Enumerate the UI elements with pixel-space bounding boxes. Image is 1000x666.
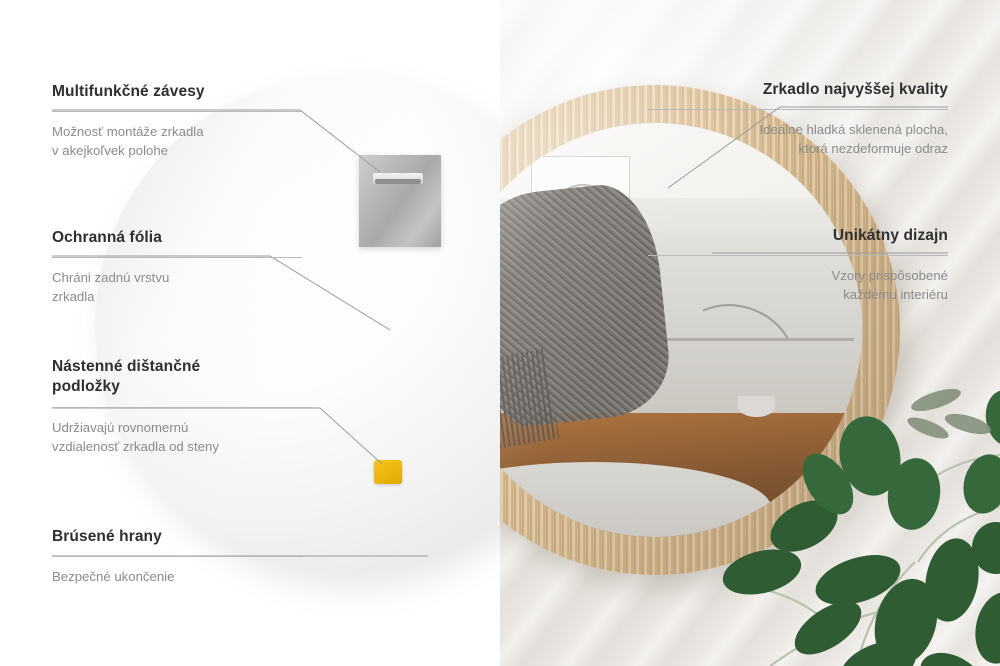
hanger-slot-shadow: [375, 179, 421, 184]
callout-description-line1: Bezpečné ukončenie: [52, 567, 302, 586]
callout-description-line2: zrkadla: [52, 287, 302, 306]
callout-rule: [648, 255, 948, 256]
callout-title: Ochranná fólia: [52, 228, 302, 248]
callout-rule: [52, 556, 302, 557]
callout-unikatny-dizajn: Unikátny dizajn Vzory prispôsobené každé…: [648, 226, 948, 304]
callout-description-line1: Udržiavajú rovnomernú: [52, 418, 312, 437]
callout-multifunkcne-zavesy: Multifunkčné závesy Možnosť montáže zrka…: [52, 82, 302, 160]
callout-title: Zrkadlo najvyššej kvality: [648, 80, 948, 100]
callout-description-line1: Ideálne hladká sklenená plocha,: [648, 120, 948, 139]
callout-description-line1: Možnosť montáže zrkadla: [52, 122, 302, 141]
callout-title: Multifunkčné závesy: [52, 82, 302, 102]
infographic-canvas: Multifunkčné závesy Možnosť montáže zrka…: [0, 0, 1000, 666]
callout-rule: [52, 407, 312, 408]
callout-rule: [52, 111, 302, 112]
callout-description-line1: Chráni zadnú vrstvu: [52, 268, 302, 287]
spacer-pad: [374, 460, 402, 484]
callout-title: Unikátny dizajn: [648, 226, 948, 246]
callout-description-line1: Vzory prispôsobené: [648, 266, 948, 285]
hanger-plate: [359, 155, 441, 247]
callout-description-line2: každému interiéru: [648, 285, 948, 304]
eucalyptus-leaves: [700, 366, 1000, 666]
callout-nastenne-distancne-podlozky: Nástenné dištančné podložky Udržiavajú r…: [52, 357, 312, 456]
callout-description-line2: v akejkoľvek polohe: [52, 141, 302, 160]
callout-rule: [52, 257, 302, 258]
callout-brusene-hrany: Brúsené hrany Bezpečné ukončenie: [52, 527, 302, 586]
callout-title-line2: podložky: [52, 377, 312, 397]
callout-title: Brúsené hrany: [52, 527, 302, 547]
callout-ochranna-folia: Ochranná fólia Chráni zadnú vrstvu zrkad…: [52, 228, 302, 306]
callout-description-line2: ktorá nezdeformuje odraz: [648, 139, 948, 158]
callout-title: Nástenné dištančné: [52, 357, 312, 377]
callout-rule: [648, 109, 948, 110]
callout-description-line2: vzdialenosť zrkadla od steny: [52, 437, 312, 456]
callout-zrkadlo-najvyssej-kvality: Zrkadlo najvyššej kvality Ideálne hladká…: [648, 80, 948, 158]
leaves-illustration-icon: [700, 366, 1000, 666]
